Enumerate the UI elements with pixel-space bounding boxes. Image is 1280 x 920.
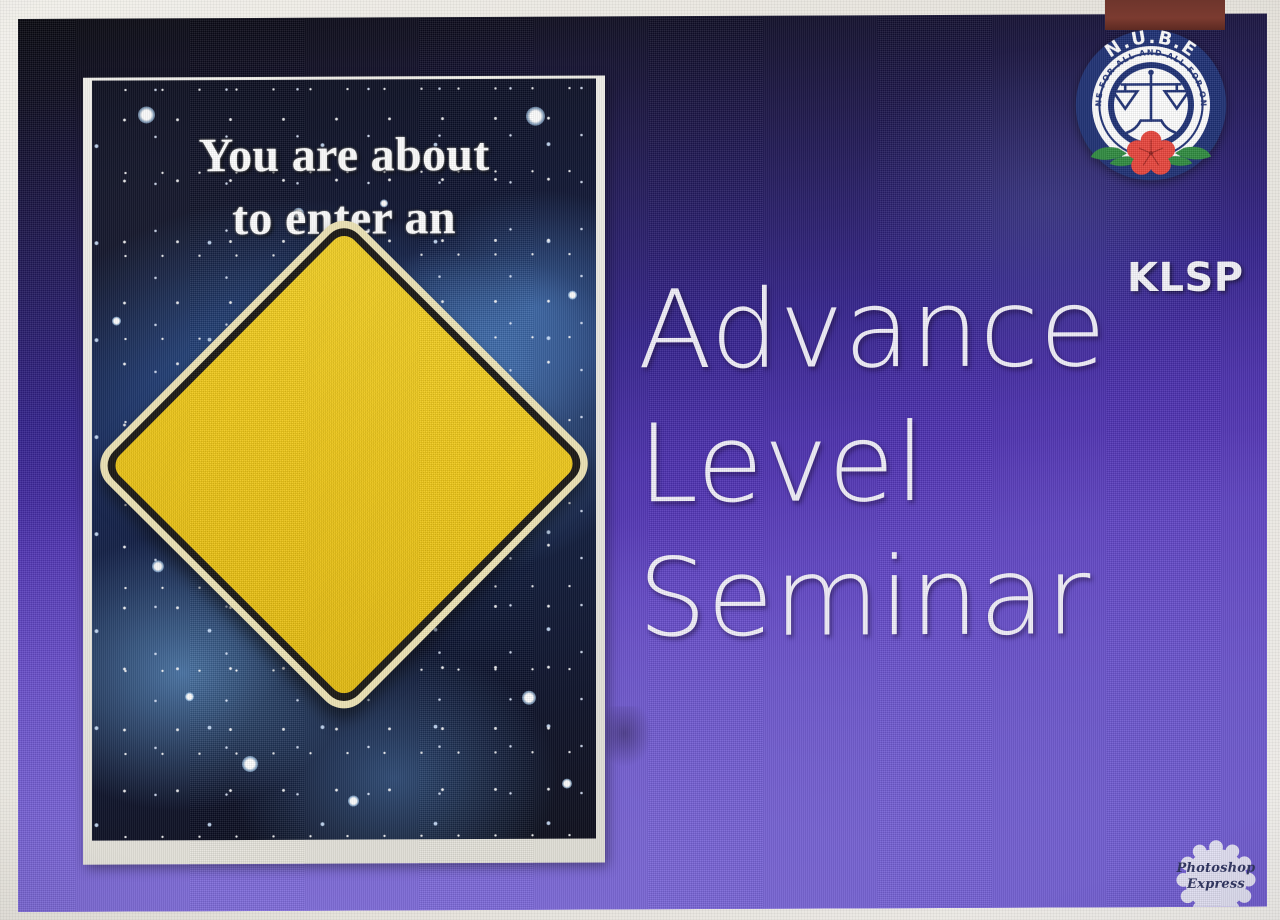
title-line-3: Seminar bbox=[638, 529, 1238, 666]
empowerment-zone-road-sign bbox=[92, 210, 596, 719]
bright-star bbox=[152, 560, 164, 572]
bright-star bbox=[348, 796, 359, 807]
slide-title: Advance Level Seminar bbox=[638, 262, 1238, 666]
bright-star bbox=[562, 779, 572, 789]
photograph-canvas: You are about to enter an EMPOWERMENT ZO… bbox=[0, 0, 1280, 920]
photo-card-frame: You are about to enter an EMPOWERMENT ZO… bbox=[83, 75, 605, 864]
bright-star bbox=[185, 692, 194, 701]
watermark-badge bbox=[1168, 837, 1264, 912]
galaxy-background-image: You are about to enter an EMPOWERMENT ZO… bbox=[92, 78, 596, 840]
road-sign-border bbox=[99, 220, 588, 709]
nube-logo: N.U.B.E ONE FOR ALL AND ALL FOR ONE bbox=[1065, 19, 1237, 192]
top-edge-object bbox=[1105, 0, 1225, 30]
headline-line-1: You are about bbox=[198, 128, 489, 182]
bright-star bbox=[568, 291, 577, 300]
klsp-label: KLSP bbox=[1127, 258, 1244, 299]
bright-star bbox=[138, 106, 155, 123]
bright-star bbox=[522, 691, 536, 705]
presentation-slide: You are about to enter an EMPOWERMENT ZO… bbox=[18, 14, 1267, 912]
title-line-2: Level bbox=[638, 396, 1238, 533]
road-sign-face bbox=[109, 230, 579, 700]
bright-star bbox=[242, 756, 258, 772]
bright-star bbox=[112, 317, 121, 326]
screen-smudge bbox=[606, 706, 652, 766]
scalloped-circle bbox=[1176, 840, 1255, 912]
